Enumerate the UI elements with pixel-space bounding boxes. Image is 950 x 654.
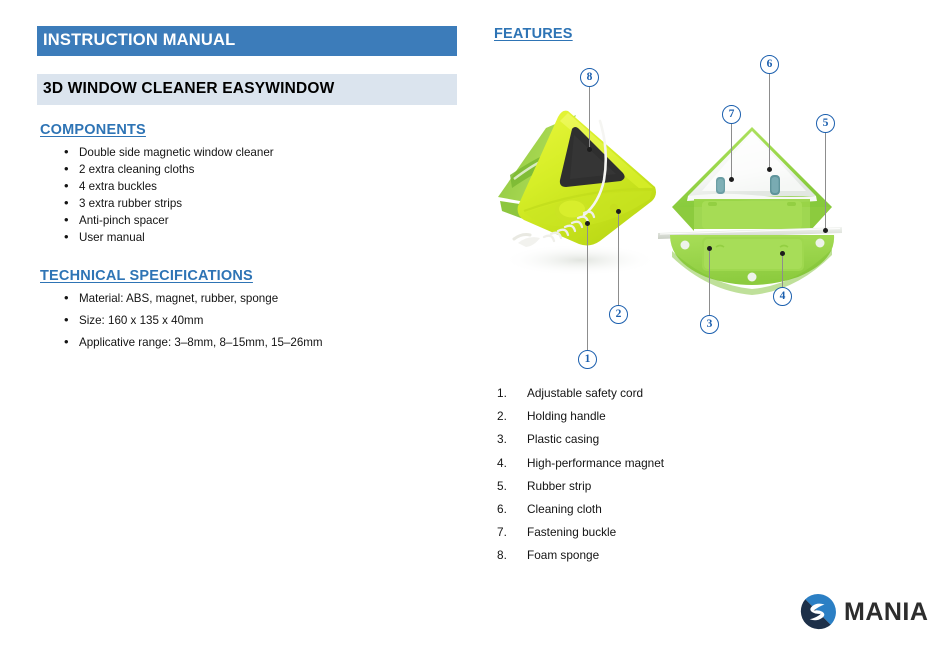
callout-2: 2	[609, 305, 628, 324]
brand-logo: MANIA	[798, 592, 928, 632]
list-item: Foam sponge	[492, 548, 852, 563]
list-item: User manual	[37, 229, 462, 246]
product-illustration: 8 6 7 5 2 1 3 4	[480, 55, 880, 375]
window-cleaner-unit-front	[498, 111, 656, 247]
callout-6: 6	[760, 55, 779, 74]
list-item: 3 extra rubber strips	[37, 195, 462, 212]
list-item: Holding handle	[492, 409, 852, 424]
list-item: 2 extra cleaning cloths	[37, 161, 462, 178]
leader-dot-7	[729, 177, 734, 182]
leader-line-8	[589, 87, 590, 149]
instruction-manual-banner: INSTRUCTION MANUAL	[37, 26, 457, 56]
list-item: Double side magnetic window cleaner	[37, 144, 462, 161]
features-heading: FEATURES	[494, 26, 914, 42]
list-item: Adjustable safety cord	[492, 386, 852, 401]
leader-line-1	[587, 225, 588, 350]
leader-line-3	[709, 250, 710, 315]
callout-5: 5	[816, 114, 835, 133]
leader-dot-8	[587, 147, 592, 152]
window-cleaner-unit-back	[658, 127, 842, 295]
product-photo-svg	[480, 55, 880, 375]
leader-dot-5	[823, 228, 828, 233]
leader-line-6	[769, 74, 770, 169]
specifications-list: Material: ABS, magnet, rubber, sponge Si…	[37, 290, 462, 352]
list-item: Fastening buckle	[492, 525, 852, 540]
leader-dot-1	[585, 221, 590, 226]
leader-line-2	[618, 213, 619, 305]
list-item: 4 extra buckles	[37, 178, 462, 195]
list-item: Anti-pinch spacer	[37, 212, 462, 229]
leader-dot-6	[767, 167, 772, 172]
list-item: High-performance magnet	[492, 456, 852, 471]
mania-logo-icon	[798, 592, 838, 632]
callout-4: 4	[773, 287, 792, 306]
leader-line-5	[825, 133, 826, 230]
manual-page: INSTRUCTION MANUAL 3D WINDOW CLEANER EAS…	[0, 0, 950, 654]
leader-line-4	[782, 255, 783, 287]
callout-3: 3	[700, 315, 719, 334]
leader-dot-2	[616, 209, 621, 214]
callout-8: 8	[580, 68, 599, 87]
list-item: Size: 160 x 135 x 40mm	[37, 312, 462, 330]
leader-line-7	[731, 124, 732, 179]
callout-7: 7	[722, 105, 741, 124]
components-list: Double side magnetic window cleaner 2 ex…	[37, 144, 462, 246]
brand-name: MANIA	[844, 598, 928, 627]
product-title-bar: 3D WINDOW CLEANER EASYWINDOW	[37, 74, 457, 105]
left-column: INSTRUCTION MANUAL 3D WINDOW CLEANER EAS…	[37, 26, 462, 356]
list-item: Rubber strip	[492, 479, 852, 494]
list-item: Applicative range: 3–8mm, 8–15mm, 15–26m…	[37, 334, 462, 352]
list-item: Cleaning cloth	[492, 502, 852, 517]
callout-1: 1	[578, 350, 597, 369]
list-item: Material: ABS, magnet, rubber, sponge	[37, 290, 462, 308]
features-numbered-list: Adjustable safety cord Holding handle Pl…	[492, 386, 852, 572]
leader-dot-3	[707, 246, 712, 251]
right-column: FEATURES	[494, 26, 914, 42]
technical-specifications-heading: TECHNICAL SPECIFICATIONS	[40, 268, 462, 284]
components-heading: COMPONENTS	[40, 122, 462, 138]
leader-dot-4	[780, 251, 785, 256]
list-item: Plastic casing	[492, 432, 852, 447]
